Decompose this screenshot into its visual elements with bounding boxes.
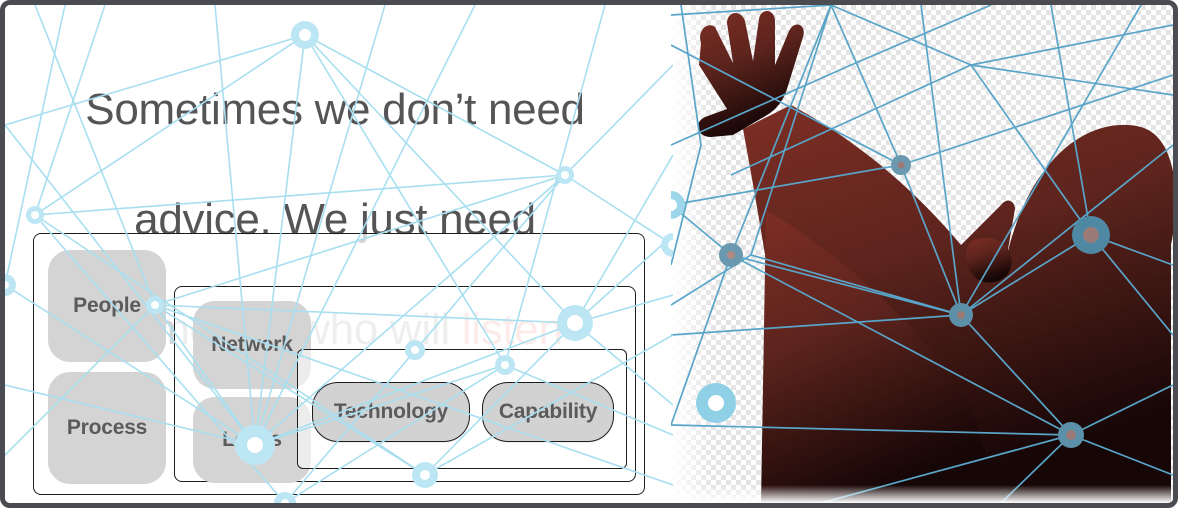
diagram-box-capability[interactable]: Capability (482, 382, 614, 442)
diagram-box-leads[interactable]: Leads (193, 397, 311, 483)
diagram-box-people[interactable]: People (48, 250, 166, 362)
left-content-panel: Sometimes we don’t need advice. We just … (5, 5, 673, 503)
diagram-box-technology[interactable]: Technology (312, 382, 470, 442)
diagram-box-leads-label: Leads (222, 428, 282, 452)
diagram-middle-container: Network Leads Technology Capability (174, 286, 636, 482)
diagram-inner-container: Technology Capability (297, 349, 627, 469)
diagram-box-process-label: Process (67, 416, 147, 440)
headline-line-1: Sometimes we don’t need (85, 85, 584, 134)
diagram-outer-container: People Process Network Leads Technology (33, 233, 645, 495)
silhouette-figure (671, 5, 1173, 503)
diagram-box-technology-label: Technology (334, 400, 448, 424)
silhouette-photo (671, 5, 1173, 503)
diagram-box-network[interactable]: Network (193, 301, 311, 389)
diagram-box-process[interactable]: Process (48, 372, 166, 484)
diagram-box-people-label: People (73, 294, 141, 318)
diagram-box-capability-label: Capability (499, 400, 597, 424)
slide-canvas: Sometimes we don’t need advice. We just … (0, 0, 1178, 508)
diagram-box-network-label: Network (211, 333, 292, 357)
